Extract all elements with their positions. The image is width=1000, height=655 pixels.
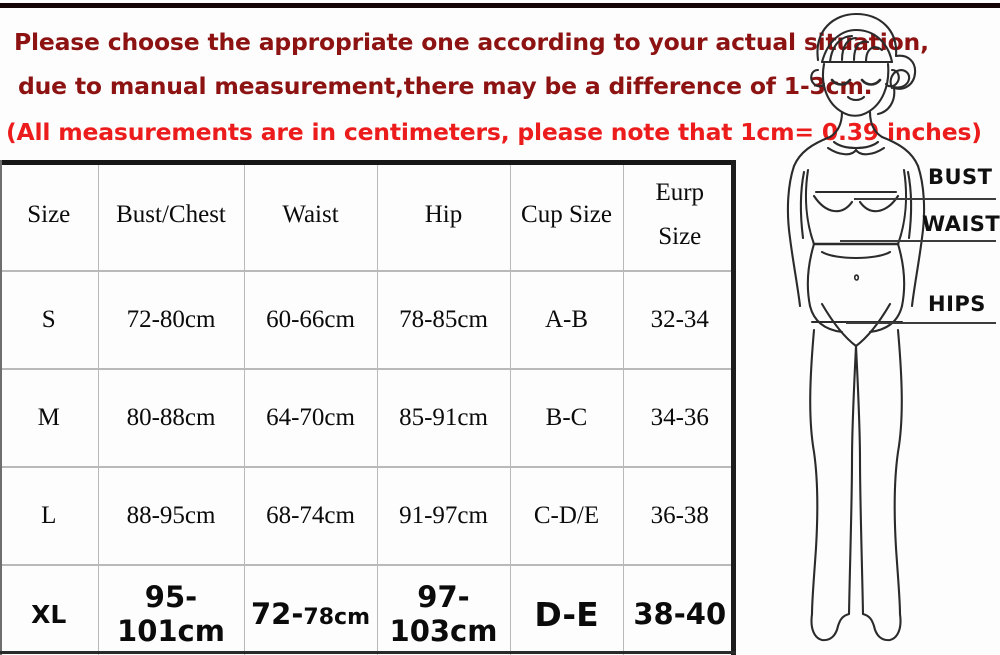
table-bottom-border bbox=[0, 651, 736, 654]
cell-eurp-value: 38-40 bbox=[633, 597, 726, 631]
cell-bust: 72-80cm bbox=[98, 271, 244, 369]
header-eurp-line2: Size bbox=[658, 215, 701, 259]
table-top-border bbox=[0, 160, 736, 165]
cell-waist-value: 72- bbox=[251, 597, 303, 631]
header-size: Size bbox=[0, 160, 98, 271]
waist-leader-line bbox=[840, 240, 996, 242]
table-row: M 80-88cm 64-70cm 85-91cm B-C 34-36 bbox=[0, 369, 736, 467]
header-cup: Cup Size bbox=[510, 160, 623, 271]
cell-size: XL bbox=[0, 565, 98, 655]
cell-bust: 95-101cm bbox=[98, 565, 244, 655]
cell-waist-suffix: 78cm bbox=[303, 605, 370, 630]
cell-bust-value: 95-101cm bbox=[117, 580, 225, 648]
bust-label: BUST bbox=[928, 165, 993, 189]
header-bust: Bust/Chest bbox=[98, 160, 244, 271]
cell-eurp: 34-36 bbox=[623, 369, 736, 467]
cell-hip: 91-97cm bbox=[377, 467, 510, 565]
header-eurp-line1: Eurp bbox=[655, 171, 704, 215]
waist-label: WAIST bbox=[922, 212, 1000, 236]
cell-cup: C-D/E bbox=[510, 467, 623, 565]
table-left-border bbox=[0, 160, 2, 655]
cell-cup: D-E bbox=[510, 565, 623, 655]
table-row: S 72-80cm 60-66cm 78-85cm A-B 32-34 bbox=[0, 271, 736, 369]
bust-leader-line bbox=[854, 198, 996, 200]
female-body-figure-icon bbox=[756, 0, 956, 655]
cell-cup-value: D-E bbox=[534, 595, 598, 634]
cell-eurp: 38-40 bbox=[623, 565, 736, 655]
cell-eurp: 32-34 bbox=[623, 271, 736, 369]
cell-size: M bbox=[0, 369, 98, 467]
table-row: L 88-95cm 68-74cm 91-97cm C-D/E 36-38 bbox=[0, 467, 736, 565]
cell-waist: 64-70cm bbox=[244, 369, 377, 467]
cell-hip-value: 97-103cm bbox=[390, 580, 498, 648]
table-row: XL 95-101cm 72-78cm 97-103cm D-E 38-40 bbox=[0, 565, 736, 655]
size-table-container: Size Bust/Chest Waist Hip Cup Size Eurp … bbox=[0, 160, 736, 655]
cell-bust: 80-88cm bbox=[98, 369, 244, 467]
cell-size: L bbox=[0, 467, 98, 565]
size-chart-page: Please choose the appropriate one accord… bbox=[0, 0, 1000, 655]
cell-waist: 68-74cm bbox=[244, 467, 377, 565]
cell-cup: A-B bbox=[510, 271, 623, 369]
figure-illustration-area: BUST WAIST HIPS bbox=[736, 0, 1000, 655]
size-table: Size Bust/Chest Waist Hip Cup Size Eurp … bbox=[0, 160, 736, 655]
cell-hip: 78-85cm bbox=[377, 271, 510, 369]
cell-waist: 72-78cm bbox=[244, 565, 377, 655]
header-eurp-size: Eurp Size bbox=[623, 160, 736, 271]
header-hip: Hip bbox=[377, 160, 510, 271]
notice-block: Please choose the appropriate one accord… bbox=[0, 14, 830, 154]
cell-hip: 97-103cm bbox=[377, 565, 510, 655]
header-waist: Waist bbox=[244, 160, 377, 271]
cell-hip: 85-91cm bbox=[377, 369, 510, 467]
hips-leader-line bbox=[846, 322, 996, 324]
cell-cup: B-C bbox=[510, 369, 623, 467]
cell-eurp: 36-38 bbox=[623, 467, 736, 565]
cell-bust: 88-95cm bbox=[98, 467, 244, 565]
cell-size: S bbox=[0, 271, 98, 369]
cell-waist: 60-66cm bbox=[244, 271, 377, 369]
table-header-row: Size Bust/Chest Waist Hip Cup Size Eurp … bbox=[0, 160, 736, 271]
hips-label: HIPS bbox=[928, 292, 986, 316]
